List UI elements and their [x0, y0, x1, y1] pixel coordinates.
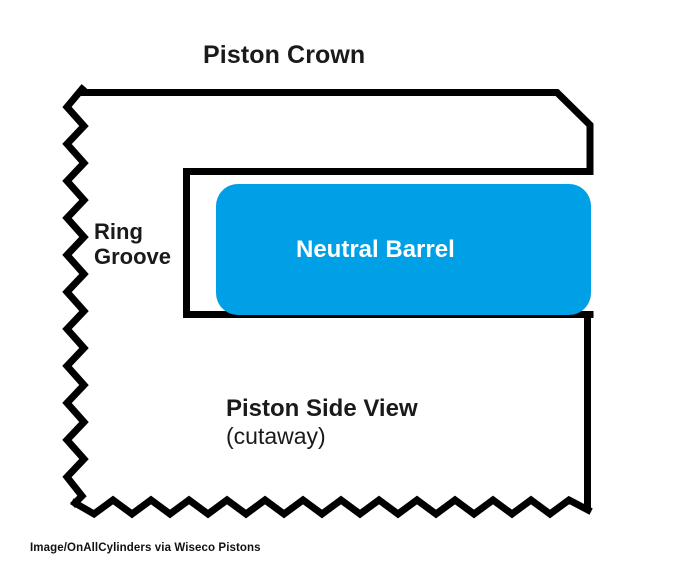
- image-credit-caption: Image/OnAllCylinders via Wiseco Pistons: [30, 542, 261, 554]
- ring-groove-label-line1: Ring: [94, 219, 143, 244]
- ring-groove-label: RingGroove: [94, 220, 171, 269]
- neutral-barrel-label: Neutral Barrel: [296, 237, 455, 263]
- piston-crown-top-outline: [82, 93, 590, 172]
- bottom-broken-edge-zigzag: [75, 500, 588, 514]
- page-title: Piston Crown: [203, 42, 365, 69]
- piston-side-view-label: Piston Side View: [226, 396, 418, 422]
- piston-diagram-figure: Piston Crown RingGroove Neutral Barrel P…: [0, 0, 674, 569]
- cutaway-sublabel: (cutaway): [226, 424, 326, 449]
- ring-groove-label-line2: Groove: [94, 244, 171, 269]
- piston-cutaway-drawing: [0, 0, 674, 569]
- left-broken-edge-zigzag: [67, 89, 84, 503]
